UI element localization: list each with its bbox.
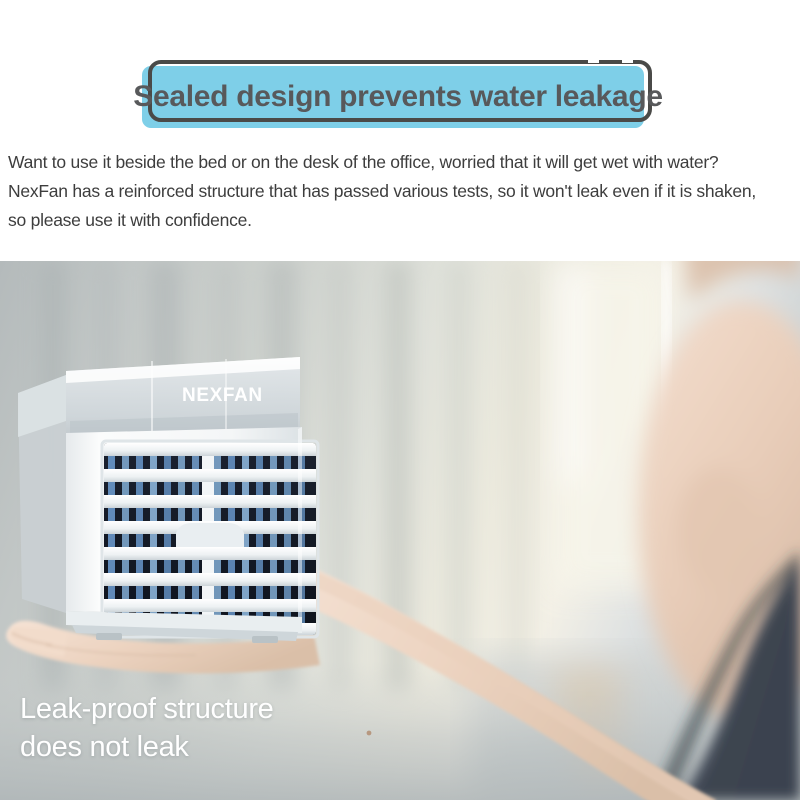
headline-banner: Sealed design prevents water leakage <box>0 0 800 150</box>
photo-caption: Leak-proof structure does not leak <box>20 690 274 766</box>
product-lifestyle-photo: NEXFAN <box>0 261 800 800</box>
product-brand-logo: NEXFAN <box>182 385 263 406</box>
description-line-1: Want to use it beside the bed or on the … <box>8 148 798 177</box>
banner-border-dash-gap <box>622 58 633 63</box>
banner-border-dash-gap <box>588 58 599 63</box>
description-line-2: NexFan has a reinforced structure that h… <box>8 177 798 206</box>
description-paragraph: Want to use it beside the bed or on the … <box>8 148 798 235</box>
banner-title: Sealed design prevents water leakage <box>152 66 644 128</box>
photo-caption-line-2: does not leak <box>20 728 274 766</box>
photo-caption-line-1: Leak-proof structure <box>20 690 274 728</box>
description-line-3: so please use it with confidence. <box>8 206 798 235</box>
